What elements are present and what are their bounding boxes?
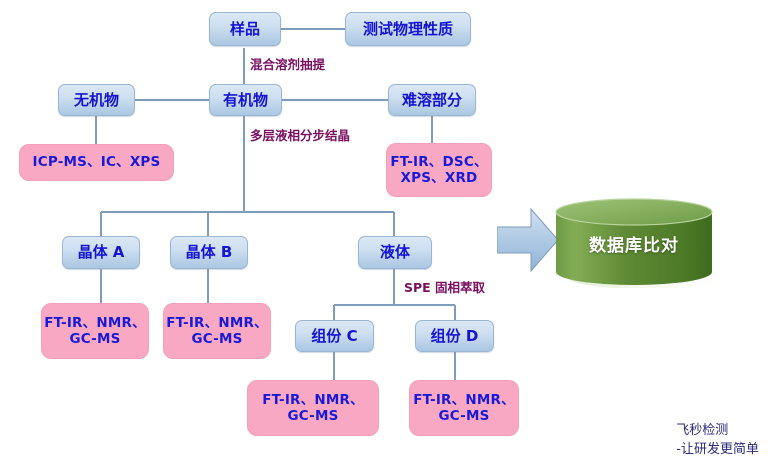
- methods-box-inorganic[interactable]: ICP-MS、IC、XPS: [19, 144, 174, 181]
- watermark-text: 飞秒检测 -让研发更简单: [676, 422, 759, 460]
- methods-box-fraction-d[interactable]: FT-IR、NMR、 GC-MS: [409, 380, 519, 436]
- methods-box-crystal-b[interactable]: FT-IR、NMR、 GC-MS: [163, 303, 271, 359]
- node-crystal-b[interactable]: 晶体 B: [170, 236, 248, 269]
- node-crystal-a[interactable]: 晶体 A: [62, 236, 140, 269]
- node-sample[interactable]: 样品: [209, 12, 281, 46]
- node-liquid[interactable]: 液体: [358, 236, 432, 269]
- node-insoluble[interactable]: 难溶部分: [388, 84, 476, 116]
- process-arrow-icon: [497, 207, 559, 273]
- node-fraction-d[interactable]: 组份 D: [415, 320, 494, 352]
- database-cylinder-icon[interactable]: [552, 198, 716, 288]
- methods-box-insoluble[interactable]: FT-IR、DSC、 XPS、XRD: [386, 143, 492, 197]
- node-fraction-c[interactable]: 组份 C: [295, 320, 374, 352]
- methods-box-fraction-c[interactable]: FT-IR、NMR、 GC-MS: [247, 380, 379, 436]
- flowchart-canvas: 样品 测试物理性质 无机物 有机物 难溶部分 晶体 A 晶体 B 液体 组份 C…: [0, 0, 771, 468]
- edge-label-solvent-extraction: 混合溶剂抽提: [250, 54, 325, 73]
- node-organic[interactable]: 有机物: [209, 84, 282, 116]
- node-physical-test[interactable]: 测试物理性质: [345, 12, 471, 46]
- edge-label-fractional-crystallization: 多层液相分步结晶: [250, 125, 350, 144]
- methods-box-crystal-a[interactable]: FT-IR、NMR、 GC-MS: [41, 303, 149, 359]
- node-inorganic[interactable]: 无机物: [58, 84, 135, 116]
- edge-label-spe: SPE 固相萃取: [404, 277, 485, 296]
